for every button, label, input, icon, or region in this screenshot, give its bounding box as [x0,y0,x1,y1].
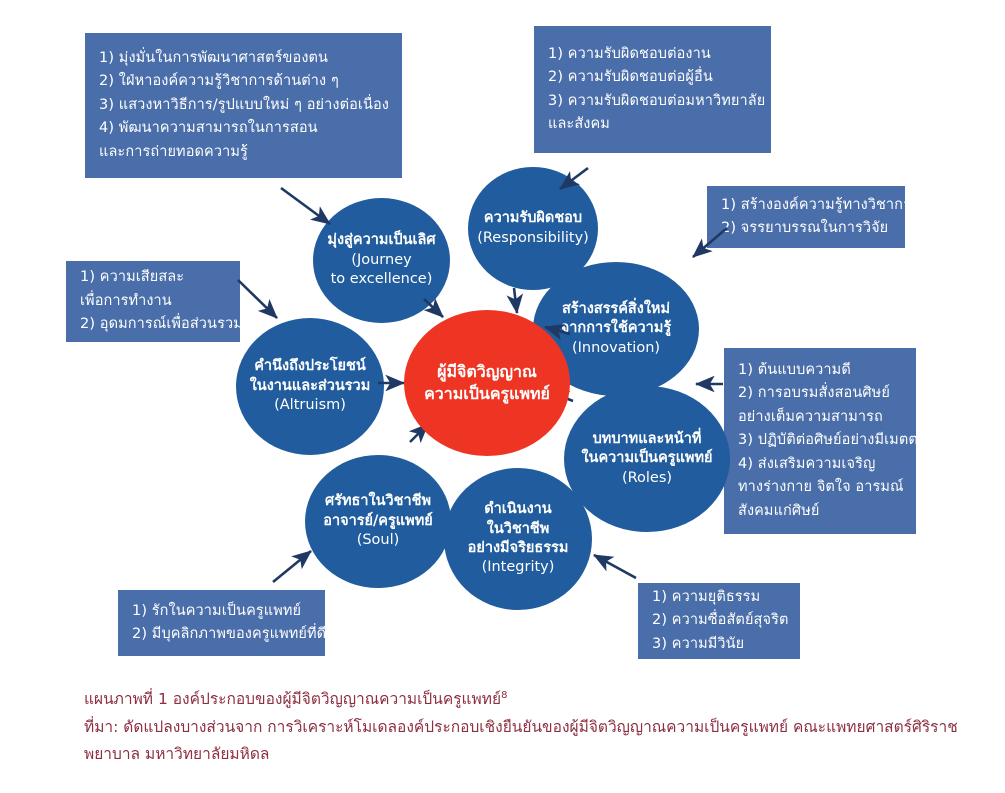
node-label-thai: อาจารย์/ครูแพทย์ [323,512,433,531]
node-label-thai: ในวิชาชีพ [487,520,550,539]
node-label-thai: สร้างสรรค์สิ่งใหม่ [562,300,670,319]
arrow-soulnotes-to-soul [273,551,311,582]
note-line: อย่างเต็มความสามารถ [738,406,902,429]
note-line: 1) ความรับผิดชอบต่องาน [548,43,757,66]
note-line: 1) สร้างองค์ความรู้ทางวิชาการ [721,194,891,217]
note-line: 2) ความซื่อสัตย์สุจริต [652,609,786,632]
node-label-en: (Responsibility) [477,229,589,248]
note-box-journey: 1) มุ่งมั่นในการพัฒนาศาสตร์ของตน 2) ใฝ่ห… [85,33,402,178]
note-line: 2) จรรยาบรรณในการวิจัย [721,217,891,240]
note-line: 4) พัฒนาความสามารถในการสอน [99,117,388,140]
note-line: 2) การอบรมสั่งสอนศิษย์ [738,382,902,405]
caption-superscript: 8 [501,690,507,701]
note-line: 2) มีบุคลิกภาพของครูแพทย์ที่ดี [132,623,311,646]
arrow-integritynotes-to-integrity [594,555,636,578]
note-line: ทางร่างกาย จิตใจ อารมณ์ [738,476,902,499]
node-label-thai: คำนึงถึงประโยชน์ [254,357,366,376]
node-integrity[interactable]: ดำเนินงาน ในวิชาชีพ อย่างมีจริยธรรม (Int… [444,468,592,610]
note-line: 1) ความยุติธรรม [652,586,786,609]
note-line: 2) ความรับผิดชอบต่อผู้อื่น [548,66,757,89]
arrow-responsibility-to-center [514,288,517,313]
note-line: 1) ต้นแบบความดี [738,359,902,382]
node-label-en: (Integrity) [482,558,555,577]
node-altruism[interactable]: คำนึงถึงประโยชน์ ในงานและส่วนรวม (Altrui… [236,318,384,455]
note-line: และสังคม [548,113,757,136]
center-label-line1: ผู้มีจิตวิญญาณ [437,361,537,383]
node-label-thai: อย่างมีจริยธรรม [468,539,569,558]
node-label-thai: มุ่งสู่ความเป็นเลิศ [327,231,435,250]
note-line: 1) ความเสียสละ [80,266,226,289]
note-line: 1) มุ่งมั่นในการพัฒนาศาสตร์ของตน [99,47,388,70]
node-label-en: (Soul) [357,531,400,550]
diagram-canvas: 1) มุ่งมั่นในการพัฒนาศาสตร์ของตน 2) ใฝ่ห… [0,0,1005,793]
note-line: 4) ส่งเสริมความเจริญ [738,453,902,476]
note-line: 3) แสวงหาวิธีการ/รูปแบบใหม่ ๆ อย่างต่อเน… [99,94,388,117]
node-label-en: (Altruism) [274,396,346,415]
note-line: 1) รักในความเป็นครูแพทย์ [132,600,311,623]
node-label-en: (Journey [351,251,411,270]
note-box-altruism: 1) ความเสียสละ เพื่อการทำงาน 2) อุดมการณ… [66,261,240,342]
node-label-thai: บทบาทและหน้าที่ [593,430,702,449]
note-box-soul: 1) รักในความเป็นครูแพทย์ 2) มีบุคลิกภาพข… [118,590,325,656]
note-box-integrity: 1) ความยุติธรรม 2) ความซื่อสัตย์สุจริต 3… [638,583,800,659]
note-box-innovation: 1) สร้างองค์ความรู้ทางวิชาการ 2) จรรยาบร… [707,186,905,248]
node-center-spirit[interactable]: ผู้มีจิตวิญญาณ ความเป็นครูแพทย์ [404,310,570,456]
note-line: สังคมแก่ศิษย์ [738,500,902,523]
note-box-responsibility: 1) ความรับผิดชอบต่องาน 2) ความรับผิดชอบต… [534,26,771,153]
note-line: เพื่อการทำงาน [80,290,226,313]
node-journey[interactable]: มุ่งสู่ความเป็นเลิศ (Journey to excellen… [313,198,450,323]
note-box-roles: 1) ต้นแบบความดี 2) การอบรมสั่งสอนศิษย์ อ… [724,348,916,534]
node-label-thai: จากการใช้ความรู้ [561,319,671,338]
node-label-thai: ในความเป็นครูแพทย์ [581,449,712,468]
center-label-line2: ความเป็นครูแพทย์ [424,383,550,405]
arrow-journeynotes-to-journey [281,188,330,224]
arrow-altruismnotes-to-altruism [238,280,277,318]
node-label-thai: ความรับผิดชอบ [484,209,582,228]
caption-line-2: ที่มา: ดัดแปลงบางส่วนจาก การวิเคราะห์โมเ… [84,714,984,742]
node-label-thai: ดำเนินงาน [484,500,551,519]
note-line: 2) อุดมการณ์เพื่อส่วนรวม [80,313,226,336]
node-soul[interactable]: ศรัทธาในวิชาชีพ อาจารย์/ครูแพทย์ (Soul) [305,455,451,588]
note-line: 3) ความมีวินัย [652,633,786,656]
node-label-en: to excellence) [331,270,433,289]
caption-title-text: แผนภาพที่ 1 องค์ประกอบของผู้มีจิตวิญญาณค… [84,690,501,708]
note-line: 2) ใฝ่หาองค์ความรู้วิชาการด้านต่าง ๆ [99,70,388,93]
node-label-en: (Roles) [622,469,672,488]
node-label-thai: ศรัทธาในวิชาชีพ [325,492,431,511]
node-label-thai: ในงานและส่วนรวม [250,377,371,396]
figure-caption: แผนภาพที่ 1 องค์ประกอบของผู้มีจิตวิญญาณค… [84,686,984,769]
caption-line-1: แผนภาพที่ 1 องค์ประกอบของผู้มีจิตวิญญาณค… [84,686,984,714]
note-line: และการถ่ายทอดความรู้ [99,141,388,164]
note-line: 3) ความรับผิดชอบต่อมหาวิทยาลัย [548,90,757,113]
node-label-en: (Innovation) [572,339,660,358]
note-line: 3) ปฏิบัติต่อศิษย์อย่างมีเมตตา [738,429,902,452]
caption-line-3: พยาบาล มหาวิทยาลัยมหิดล [84,741,984,769]
node-roles[interactable]: บทบาทและหน้าที่ ในความเป็นครูแพทย์ (Role… [564,386,730,532]
